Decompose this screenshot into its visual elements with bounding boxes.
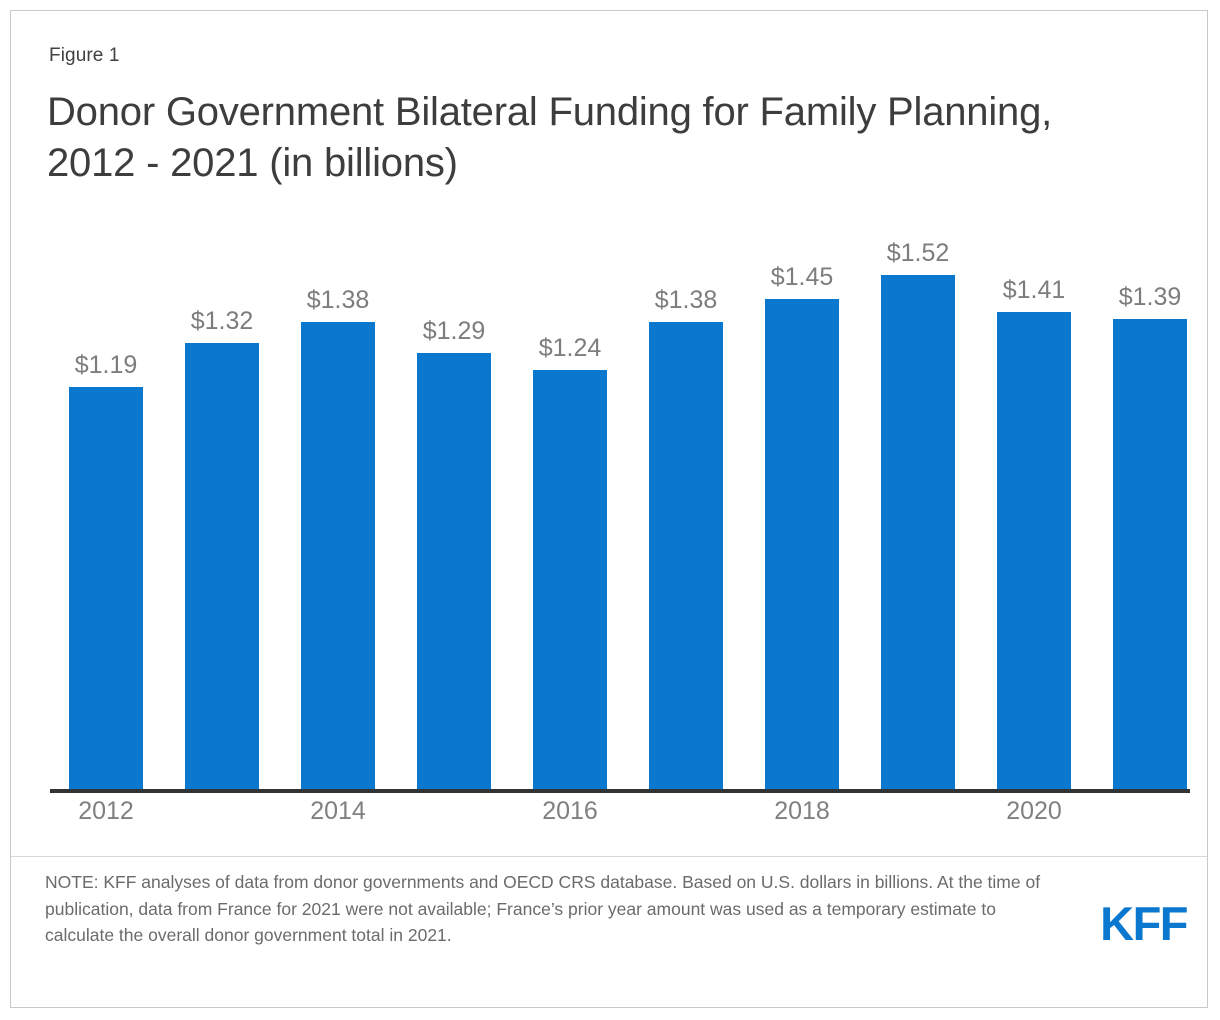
- bar-rect[interactable]: [417, 353, 491, 789]
- bar-rect[interactable]: [649, 322, 723, 789]
- bar-value-label: $1.38: [627, 286, 745, 315]
- x-tick-2018: 2018: [742, 797, 862, 826]
- bar-value-label: $1.41: [975, 276, 1093, 305]
- bar-value-label: $1.19: [47, 351, 165, 380]
- bar-rect[interactable]: [533, 370, 607, 789]
- bar-value-label: $1.38: [279, 286, 397, 315]
- figure-container: Figure 1 Donor Government Bilateral Fund…: [10, 10, 1208, 1008]
- bar-value-label: $1.32: [163, 307, 281, 336]
- x-tick-2012: 2012: [46, 797, 166, 826]
- bar-value-label: $1.52: [859, 239, 977, 268]
- bar-value-label: $1.29: [395, 317, 513, 346]
- bar-rect[interactable]: [881, 275, 955, 789]
- chart-title: Donor Government Bilateral Funding for F…: [47, 87, 1107, 189]
- figure-number-label: Figure 1: [49, 45, 120, 67]
- bar-value-label: $1.45: [743, 263, 861, 292]
- x-axis-line: [50, 789, 1190, 793]
- x-tick-2014: 2014: [278, 797, 398, 826]
- bar-rect[interactable]: [997, 312, 1071, 789]
- bar-rect[interactable]: [1113, 319, 1187, 789]
- bar-value-label: $1.39: [1091, 283, 1208, 312]
- bar-rect[interactable]: [765, 299, 839, 789]
- chart-note: NOTE: KFF analyses of data from donor go…: [45, 869, 1055, 949]
- footer-divider: [11, 856, 1208, 857]
- x-tick-2020: 2020: [974, 797, 1094, 826]
- bar-chart-plot-area: $1.19$1.32$1.38$1.29$1.24$1.38$1.45$1.52…: [40, 221, 1190, 793]
- kff-logo: KFF: [1100, 896, 1187, 951]
- bar-rect[interactable]: [69, 387, 143, 789]
- bar-rect[interactable]: [185, 343, 259, 789]
- x-axis-tick-labels: 20122014201620182020: [40, 797, 1190, 837]
- bar-rect[interactable]: [301, 322, 375, 789]
- bar-value-label: $1.24: [511, 334, 629, 363]
- x-tick-2016: 2016: [510, 797, 630, 826]
